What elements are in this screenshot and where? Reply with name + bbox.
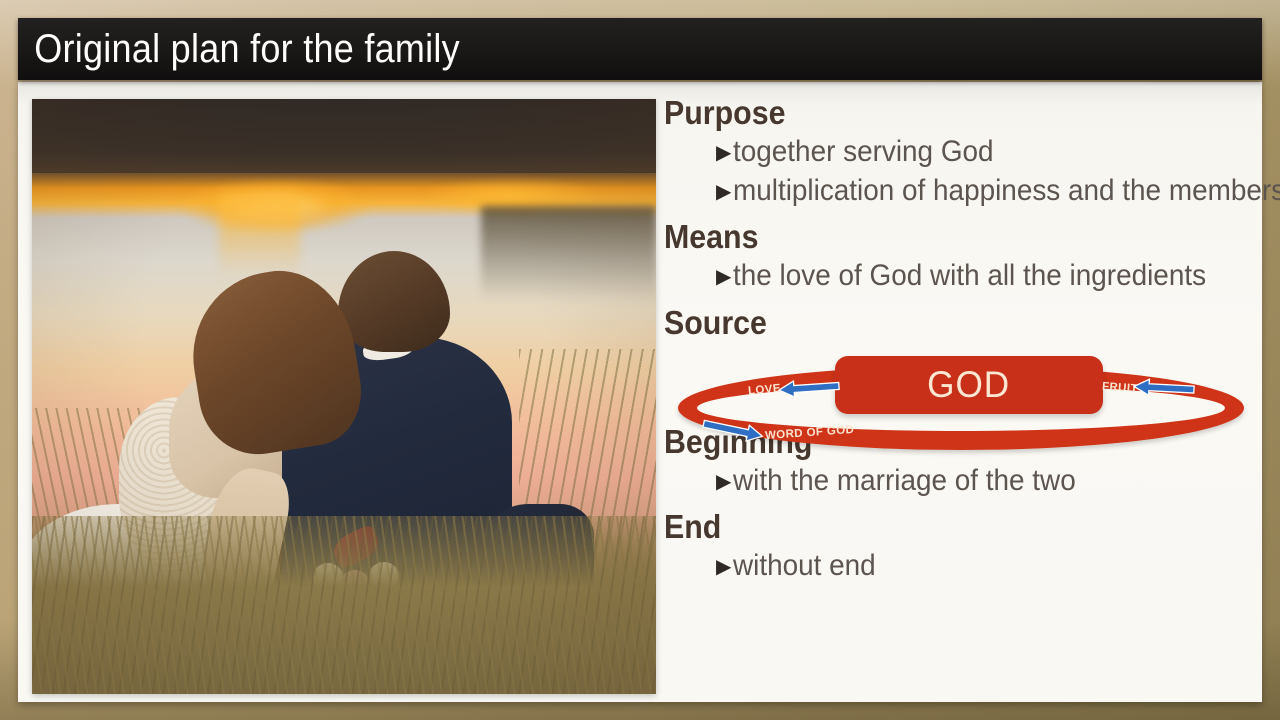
- triangle-bullet-icon: ▶: [716, 182, 731, 202]
- list-item: ▶ without end: [664, 550, 1256, 582]
- list-item-label: with the marriage of the two: [733, 465, 1076, 497]
- triangle-bullet-icon: ▶: [716, 472, 731, 492]
- god-cycle-diagram: GOD LOVE FRUIT WORD OF GOD: [678, 352, 1258, 464]
- photo-vignette: [32, 99, 656, 694]
- list-item-label: multiplication of happiness and the memb…: [733, 175, 1280, 207]
- section-heading-purpose: Purpose: [664, 96, 1209, 129]
- slide-title-bar: Original plan for the family: [18, 18, 1262, 80]
- wedding-photo: [32, 99, 656, 694]
- god-center-box: GOD: [835, 356, 1103, 414]
- list-item: ▶ the love of God with all the ingredien…: [664, 260, 1256, 292]
- triangle-bullet-icon: ▶: [716, 557, 731, 577]
- list-item: ▶ multiplication of happiness and the me…: [664, 175, 1256, 207]
- section-heading-means: Means: [664, 220, 1209, 253]
- triangle-bullet-icon: ▶: [716, 267, 731, 287]
- page-title: Original plan for the family: [18, 27, 460, 72]
- section-heading-source: Source: [664, 306, 1209, 339]
- arrow-left-icon-fruit: [1133, 376, 1196, 399]
- section-heading-end: End: [664, 510, 1209, 543]
- slide: Original plan for the family: [0, 0, 1280, 720]
- god-label: GOD: [928, 364, 1011, 406]
- list-item: ▶ with the marriage of the two: [664, 465, 1256, 497]
- list-item: ▶ together serving God: [664, 136, 1256, 168]
- triangle-bullet-icon: ▶: [716, 143, 731, 163]
- list-item-label: the love of God with all the ingredients: [733, 260, 1206, 292]
- photo-image: [32, 99, 656, 694]
- list-item-label: without end: [733, 550, 876, 582]
- list-item-label: together serving God: [733, 136, 994, 168]
